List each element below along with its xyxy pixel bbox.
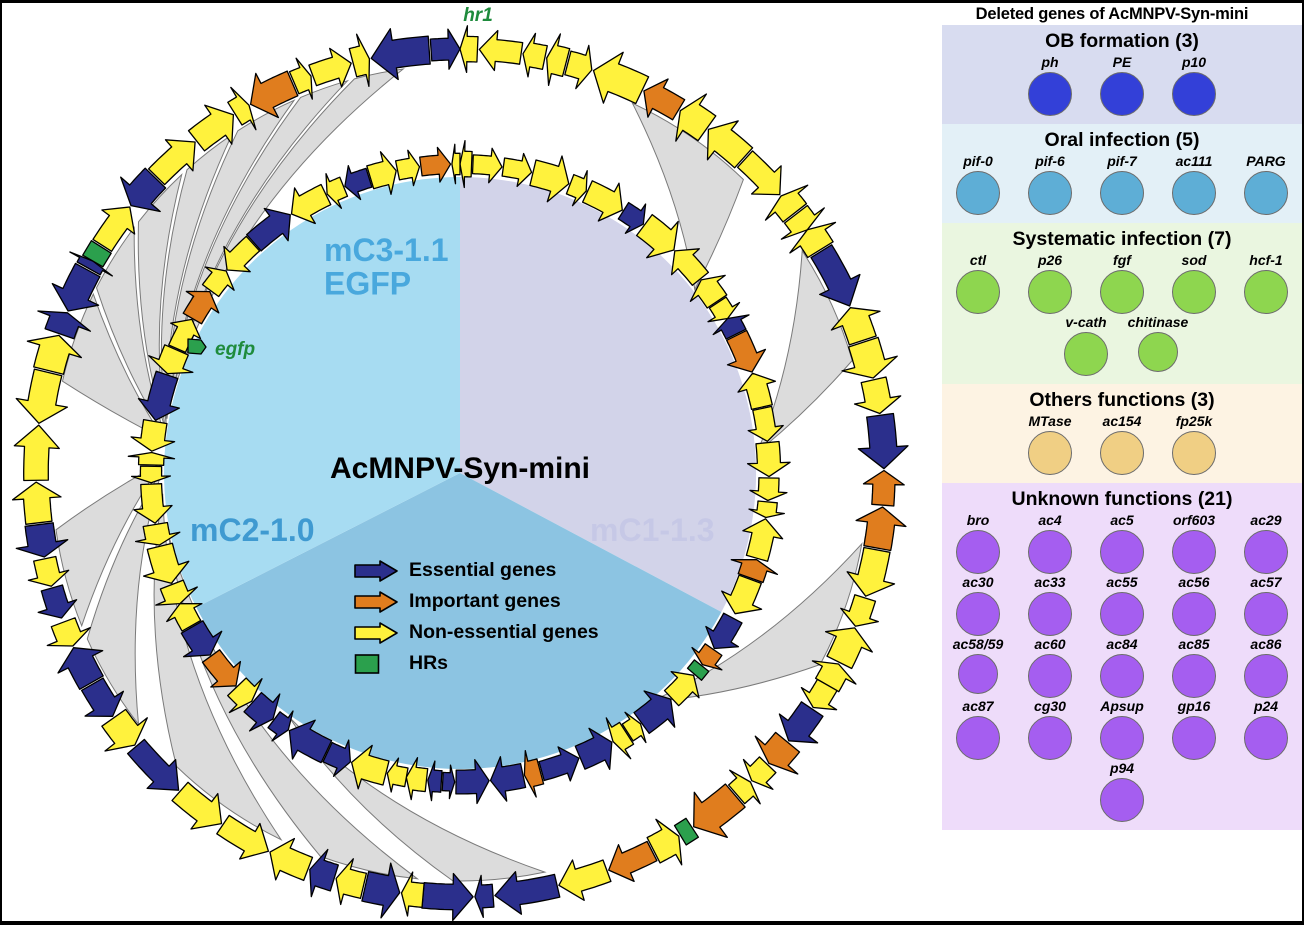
gene-name: ac33: [1034, 574, 1065, 591]
gene-row: pif-0pif-6pif-7ac111PARG: [942, 153, 1302, 215]
gene-item[interactable]: ac29: [1230, 512, 1302, 574]
gene-circle[interactable]: [1172, 72, 1216, 116]
gene-circle[interactable]: [1100, 778, 1144, 822]
gene-item[interactable]: p24: [1230, 698, 1302, 760]
gene-circle[interactable]: [1100, 654, 1144, 698]
gene-circle[interactable]: [956, 270, 1000, 314]
gene-item[interactable]: fp25k: [1158, 413, 1230, 475]
gene-circle[interactable]: [1138, 332, 1178, 372]
gene-section: OB formation (3)phPEp10: [942, 25, 1302, 124]
gene-name: ac56: [1178, 574, 1209, 591]
gene-name: p26: [1038, 252, 1062, 269]
gene-item[interactable]: ph: [1014, 54, 1086, 116]
gene-circle[interactable]: [956, 530, 1000, 574]
gene-name: ac55: [1106, 574, 1137, 591]
gene-item[interactable]: ac84: [1086, 636, 1158, 698]
gene-circle[interactable]: [1244, 654, 1288, 698]
gene-name: pif-0: [963, 153, 993, 170]
gene-item[interactable]: p26: [1014, 252, 1086, 314]
genome-center-title: AcMNPV-Syn-mini: [330, 452, 590, 485]
gene-name: fp25k: [1176, 413, 1213, 430]
gene-item[interactable]: cg30: [1014, 698, 1086, 760]
gene-name: fgf: [1113, 252, 1131, 269]
gene-item[interactable]: ac55: [1086, 574, 1158, 636]
legend-hr-box-icon: [354, 653, 398, 675]
gene-arrow-non: [460, 26, 478, 73]
gene-circle[interactable]: [1172, 431, 1216, 475]
gene-row: ac30ac33ac55ac56ac57: [942, 574, 1302, 636]
gene-name: ac57: [1250, 574, 1281, 591]
gene-name: gp16: [1178, 698, 1211, 715]
gene-arrow-imp: [644, 79, 685, 120]
gene-item[interactable]: hcf-1: [1230, 252, 1302, 314]
gene-name: ac87: [962, 698, 993, 715]
gene-item[interactable]: pif-0: [942, 153, 1014, 215]
gene-name: ctl: [970, 252, 986, 269]
gene-item[interactable]: Apsup: [1086, 698, 1158, 760]
gene-item[interactable]: pif-6: [1014, 153, 1086, 215]
legend-row: Important genes: [354, 586, 654, 617]
gene-name: ac5: [1110, 512, 1133, 529]
sector-label-mc2: mC2-1.0: [190, 512, 315, 548]
gene-item[interactable]: ac57: [1230, 574, 1302, 636]
gene-name: ac4: [1038, 512, 1061, 529]
gene-circle[interactable]: [1064, 332, 1108, 376]
gene-circle[interactable]: [1172, 592, 1216, 636]
gene-section-title: Others functions (3): [942, 387, 1302, 413]
gene-arrow-non: [855, 377, 901, 414]
legend-arrow-icon: [354, 560, 398, 582]
gene-row: broac4ac5orf603ac29: [942, 512, 1302, 574]
gene-arrow-ess: [475, 875, 494, 917]
gene-circle[interactable]: [956, 716, 1000, 760]
gene-arrow-non: [479, 31, 522, 71]
gene-name: p94: [1110, 760, 1134, 777]
gene-item[interactable]: ac86: [1230, 636, 1302, 698]
gene-section: Oral infection (5)pif-0pif-6pif-7ac111PA…: [942, 124, 1302, 223]
gene-circle[interactable]: [1100, 72, 1144, 116]
gene-arrow-ess: [858, 414, 908, 469]
gene-section: Others functions (3)MTaseac154fp25k: [942, 384, 1302, 483]
gene-name: ph: [1041, 54, 1058, 71]
gene-name: sod: [1182, 252, 1207, 269]
gene-circle[interactable]: [958, 654, 998, 694]
gene-arrow-non: [14, 425, 59, 480]
gene-circle[interactable]: [1100, 716, 1144, 760]
figure-root: hr1egfpmC3-1.1EGFPmC1-1.3mC2-1.0AcMNPV-S…: [0, 0, 1304, 925]
gene-name: PARG: [1246, 153, 1285, 170]
gene-arrow-ess: [442, 765, 455, 799]
gene-circle[interactable]: [1028, 270, 1072, 314]
gene-name: ac30: [962, 574, 993, 591]
gene-name: orf603: [1173, 512, 1215, 529]
gene-item[interactable]: PARG: [1230, 153, 1302, 215]
gene-row: MTaseac154fp25k: [942, 413, 1302, 475]
legend-arrow-icon: [354, 622, 398, 644]
gene-circle[interactable]: [1028, 530, 1072, 574]
gene-circle[interactable]: [1100, 592, 1144, 636]
gene-circle[interactable]: [1172, 171, 1216, 215]
gene-name: p24: [1254, 698, 1278, 715]
sector-label-mc1: mC1-1.3: [590, 512, 715, 548]
gene-arrow-non: [13, 482, 61, 524]
feature-label-hr1: hr1: [463, 5, 493, 26]
legend-label: HRs: [409, 652, 448, 675]
gene-item[interactable]: orf603: [1158, 512, 1230, 574]
feature-label-egfp: egfp: [215, 339, 255, 360]
deleted-genes-panel: Deleted genes of AcMNPV-Syn-mini OB form…: [922, 3, 1302, 924]
gene-circle[interactable]: [1028, 716, 1072, 760]
gene-item[interactable]: p94: [1086, 760, 1158, 822]
gene-circle[interactable]: [1244, 270, 1288, 314]
gene-circle[interactable]: [1244, 716, 1288, 760]
gene-name: Apsup: [1100, 698, 1144, 715]
gene-name: MTase: [1028, 413, 1071, 430]
gene-circle[interactable]: [1028, 431, 1072, 475]
gene-circle[interactable]: [956, 171, 1000, 215]
legend-label: Non-essential genes: [409, 621, 599, 644]
gene-item[interactable]: ac85: [1158, 636, 1230, 698]
gene-item[interactable]: p10: [1158, 54, 1230, 116]
gene-name: ac111: [1176, 153, 1213, 170]
gene-name: ac58/59: [953, 636, 1004, 653]
gene-name: PE: [1113, 54, 1132, 71]
gene-arrow-non: [523, 33, 547, 77]
gene-section-title: Oral infection (5): [942, 127, 1302, 153]
gene-circle[interactable]: [1100, 530, 1144, 574]
gene-name: ac60: [1034, 636, 1065, 653]
gene-arrow-non: [559, 860, 611, 900]
gene-item[interactable]: MTase: [1014, 413, 1086, 475]
gene-item[interactable]: chitinase: [1122, 314, 1194, 372]
gene-section-title: Unknown functions (21): [942, 486, 1302, 512]
gene-item[interactable]: ac60: [1014, 636, 1086, 698]
map-legend: Essential genesImportant genesNon-essent…: [354, 555, 654, 679]
gene-item[interactable]: ac154: [1086, 413, 1158, 475]
gene-item[interactable]: gp16: [1158, 698, 1230, 760]
gene-name: cg30: [1034, 698, 1066, 715]
gene-name: chitinase: [1128, 314, 1189, 331]
gene-item[interactable]: ac33: [1014, 574, 1086, 636]
gene-arrow-imp: [609, 841, 657, 881]
gene-circle[interactable]: [1172, 654, 1216, 698]
gene-item[interactable]: ac56: [1158, 574, 1230, 636]
gene-section-title: OB formation (3): [942, 28, 1302, 54]
legend-row: HRs: [354, 648, 654, 679]
gene-name: ac84: [1106, 636, 1137, 653]
gene-arrow-non: [47, 618, 90, 646]
gene-circle[interactable]: [1100, 270, 1144, 314]
gene-item[interactable]: pif-7: [1086, 153, 1158, 215]
gene-item[interactable]: ac111: [1158, 153, 1230, 215]
gene-item[interactable]: ac5: [1086, 512, 1158, 574]
gene-circle[interactable]: [1172, 530, 1216, 574]
gene-arrow-imp: [856, 507, 906, 551]
gene-circle[interactable]: [1244, 530, 1288, 574]
gene-circle[interactable]: [1172, 716, 1216, 760]
gene-name: p10: [1182, 54, 1206, 71]
gene-circle[interactable]: [1244, 592, 1288, 636]
legend-row: Essential genes: [354, 555, 654, 586]
gene-item[interactable]: ac87: [942, 698, 1014, 760]
gene-circle[interactable]: [1244, 171, 1288, 215]
gene-section: Systematic infection (7)ctlp26fgfsodhcf-…: [942, 223, 1302, 384]
gene-arrow-imp: [420, 147, 451, 182]
gene-item[interactable]: ctl: [942, 252, 1014, 314]
gene-name: bro: [967, 512, 990, 529]
gene-arrow-ess: [128, 739, 179, 790]
gene-section: Unknown functions (21)broac4ac5orf603ac2…: [942, 483, 1302, 830]
gene-circle[interactable]: [1028, 654, 1072, 698]
gene-name: ac29: [1250, 512, 1281, 529]
gene-name: hcf-1: [1249, 252, 1282, 269]
gene-row: v-cathchitinase: [942, 314, 1302, 376]
gene-name: ac86: [1250, 636, 1281, 653]
gene-item[interactable]: ac58/59: [942, 636, 1014, 694]
legend-arrow-icon: [354, 591, 398, 613]
gene-arrow-imp: [727, 330, 766, 372]
gene-circle[interactable]: [956, 592, 1000, 636]
gene-arrow-ess: [371, 29, 430, 80]
gene-item[interactable]: fgf: [1086, 252, 1158, 314]
gene-item[interactable]: v-cath: [1050, 314, 1122, 376]
panel-title: Deleted genes of AcMNPV-Syn-mini: [922, 3, 1302, 25]
gene-row: ac58/59ac60ac84ac85ac86: [942, 636, 1302, 698]
genome-svg: hr1egfpmC3-1.1EGFPmC1-1.3mC2-1.0AcMNPV-S…: [2, 3, 922, 924]
gene-item[interactable]: sod: [1158, 252, 1230, 314]
gene-arrow-non: [270, 839, 313, 881]
gene-item[interactable]: ac30: [942, 574, 1014, 636]
gene-circle[interactable]: [1028, 592, 1072, 636]
gene-row: phPEp10: [942, 54, 1302, 116]
gene-arrow-ess: [430, 29, 460, 69]
panel-sections: OB formation (3)phPEp10Oral infection (5…: [942, 25, 1302, 924]
gene-row: p94: [942, 760, 1302, 822]
gene-arrow-non: [594, 52, 649, 103]
gene-circle[interactable]: [1028, 171, 1072, 215]
gene-row: ctlp26fgfsodhcf-1: [942, 252, 1302, 314]
gene-arrow-non: [16, 369, 67, 423]
legend-label: Important genes: [409, 590, 561, 613]
gene-arrow-non: [396, 150, 420, 185]
gene-name: ac85: [1178, 636, 1209, 653]
gene-arrow-non: [826, 628, 873, 669]
gene-arrow-non: [547, 34, 570, 86]
gene-item[interactable]: bro: [942, 512, 1014, 574]
gene-row: ac87cg30Apsupgp16p24: [942, 698, 1302, 760]
legend-row: Non-essential genes: [354, 617, 654, 648]
gene-name: ac154: [1103, 413, 1142, 430]
gene-item[interactable]: ac4: [1014, 512, 1086, 574]
gene-circle[interactable]: [1028, 72, 1072, 116]
gene-arrow-imp: [864, 471, 905, 507]
gene-section-title: Systematic infection (7): [942, 226, 1302, 252]
gene-circle[interactable]: [1100, 171, 1144, 215]
gene-circle[interactable]: [1100, 431, 1144, 475]
gene-name: pif-7: [1107, 153, 1137, 170]
gene-circle[interactable]: [1172, 270, 1216, 314]
gene-name: pif-6: [1035, 153, 1065, 170]
gene-name: v-cath: [1065, 314, 1106, 331]
circular-genome-map: hr1egfpmC3-1.1EGFPmC1-1.3mC2-1.0AcMNPV-S…: [2, 3, 922, 924]
legend-label: Essential genes: [409, 559, 556, 582]
gene-item[interactable]: PE: [1086, 54, 1158, 116]
